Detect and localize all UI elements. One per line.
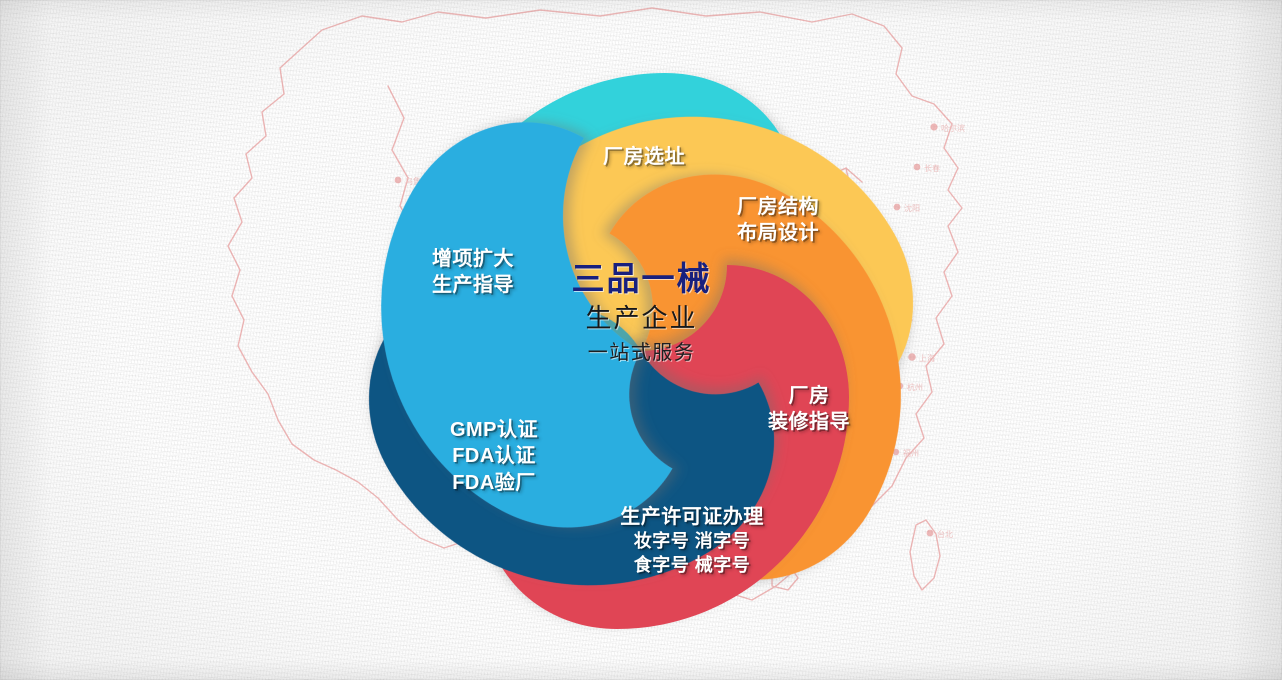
- canvas-edge-shading: [0, 0, 1282, 680]
- infographic-canvas: 哈尔滨 长春 沈阳 北京 济南 郑州 南京 上海 武汉 杭州 长沙 南昌 福州 …: [0, 0, 1282, 680]
